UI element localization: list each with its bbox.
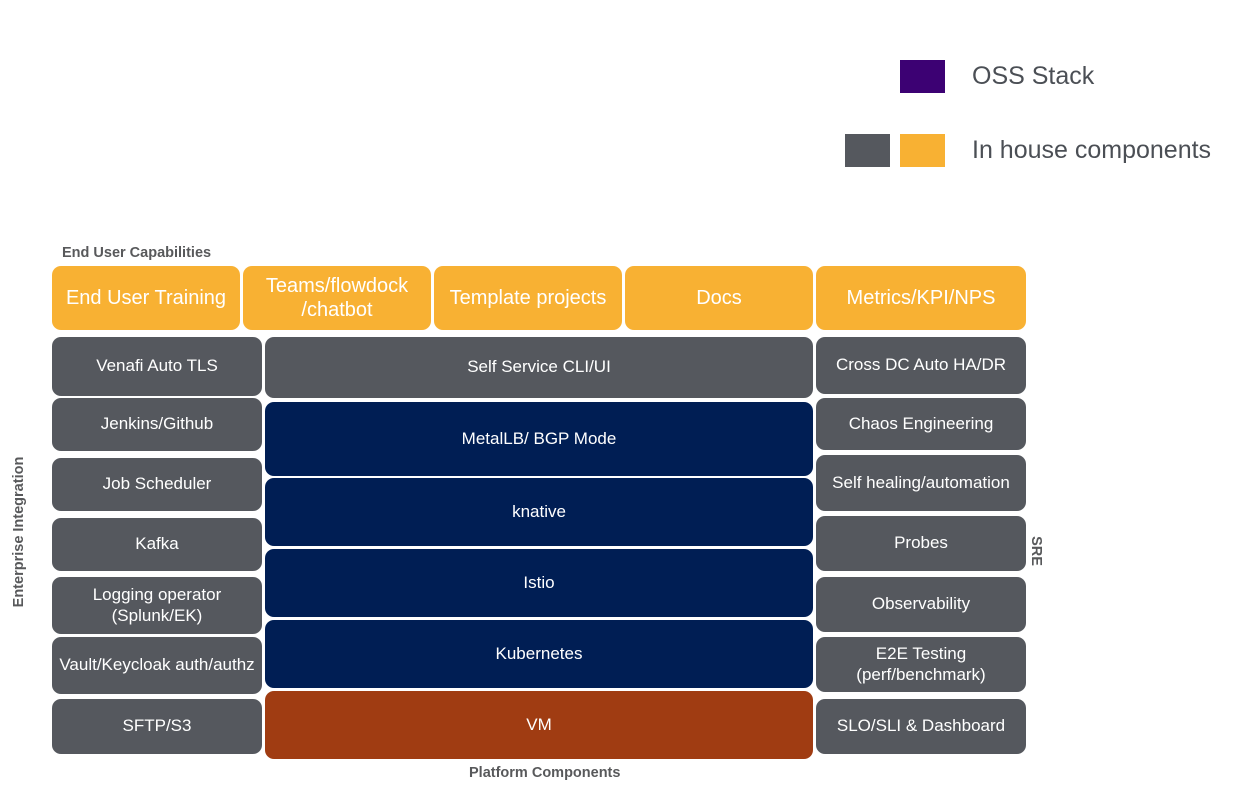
box-label: Self healing/automation — [832, 473, 1010, 493]
box-label: SFTP/S3 — [123, 716, 192, 736]
sre-box-0[interactable]: Cross DC Auto HA/DR — [816, 337, 1026, 394]
box-label: Logging operator (Splunk/EK) — [58, 585, 256, 626]
end-user-capability-box-1[interactable]: Teams/flowdock /chatbot — [243, 266, 431, 330]
box-label: SLO/SLI & Dashboard — [837, 716, 1005, 736]
sre-box-2[interactable]: Self healing/automation — [816, 455, 1026, 511]
box-label: Venafi Auto TLS — [96, 356, 218, 376]
box-label: End User Training — [66, 286, 226, 310]
platform-component-box-3[interactable]: Istio — [265, 549, 813, 617]
platform-component-box-4[interactable]: Kubernetes — [265, 620, 813, 688]
box-label: Chaos Engineering — [849, 414, 994, 434]
platform-component-box-0[interactable]: Self Service CLI/UI — [265, 337, 813, 398]
platform-component-box-1[interactable]: MetalLB/ BGP Mode — [265, 402, 813, 476]
box-label: MetalLB/ BGP Mode — [462, 429, 617, 449]
caption-enterprise-integration: Enterprise Integration — [11, 432, 27, 632]
sre-box-5[interactable]: E2E Testing (perf/benchmark) — [816, 637, 1026, 692]
end-user-capability-box-2[interactable]: Template projects — [434, 266, 622, 330]
sre-box-3[interactable]: Probes — [816, 516, 1026, 571]
enterprise-integration-box-3[interactable]: Kafka — [52, 518, 262, 571]
box-label: Job Scheduler — [103, 474, 212, 494]
sre-box-1[interactable]: Chaos Engineering — [816, 398, 1026, 450]
box-label: Jenkins/Github — [101, 414, 213, 434]
box-label: Self Service CLI/UI — [467, 357, 611, 377]
platform-component-box-5[interactable]: VM — [265, 691, 813, 759]
platform-component-box-2[interactable]: knative — [265, 478, 813, 546]
box-label: knative — [512, 502, 566, 522]
sre-box-4[interactable]: Observability — [816, 577, 1026, 632]
enterprise-integration-box-0[interactable]: Venafi Auto TLS — [52, 337, 262, 396]
architecture-diagram: End User Capabilities Platform Component… — [0, 0, 1247, 807]
enterprise-integration-box-5[interactable]: Vault/Keycloak auth/authz — [52, 637, 262, 694]
box-label: Teams/flowdock /chatbot — [249, 274, 425, 322]
enterprise-integration-box-6[interactable]: SFTP/S3 — [52, 699, 262, 754]
caption-sre: SRE — [1028, 501, 1044, 601]
box-label: Kubernetes — [496, 644, 583, 664]
box-label: Probes — [894, 533, 948, 553]
box-label: E2E Testing (perf/benchmark) — [822, 644, 1020, 685]
caption-platform-components: Platform Components — [469, 765, 620, 781]
enterprise-integration-box-1[interactable]: Jenkins/Github — [52, 398, 262, 451]
box-label: Cross DC Auto HA/DR — [836, 355, 1006, 375]
end-user-capability-box-4[interactable]: Metrics/KPI/NPS — [816, 266, 1026, 330]
box-label: Kafka — [135, 534, 178, 554]
end-user-capability-box-0[interactable]: End User Training — [52, 266, 240, 330]
end-user-capability-box-3[interactable]: Docs — [625, 266, 813, 330]
box-label: Istio — [523, 573, 554, 593]
box-label: Vault/Keycloak auth/authz — [59, 655, 254, 675]
box-label: Metrics/KPI/NPS — [847, 286, 996, 310]
enterprise-integration-box-2[interactable]: Job Scheduler — [52, 458, 262, 511]
box-label: Docs — [696, 286, 742, 310]
caption-end-user-capabilities: End User Capabilities — [62, 245, 211, 261]
enterprise-integration-box-4[interactable]: Logging operator (Splunk/EK) — [52, 577, 262, 634]
box-label: Template projects — [450, 286, 607, 310]
sre-box-6[interactable]: SLO/SLI & Dashboard — [816, 699, 1026, 754]
box-label: VM — [526, 715, 552, 735]
box-label: Observability — [872, 594, 970, 614]
